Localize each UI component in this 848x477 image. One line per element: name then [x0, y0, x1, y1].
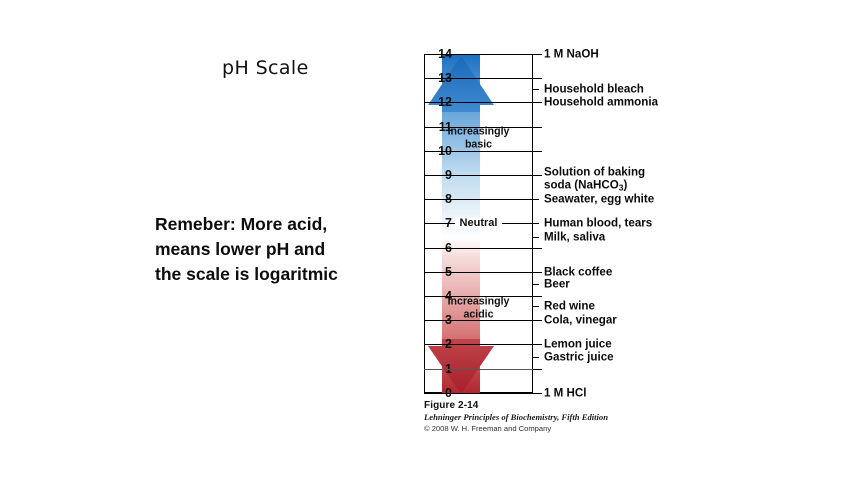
side-label-household-ammonia: Household ammonia [544, 96, 658, 109]
gridline [424, 369, 533, 370]
note-line-2: means lower pH and [155, 237, 385, 262]
tick-mark [533, 369, 542, 370]
tick-mark-minor [533, 357, 539, 358]
gridline [424, 175, 533, 176]
tick-mark-minor [533, 89, 539, 90]
baking-soda-line-1: Solution of baking [544, 166, 645, 179]
gridline [424, 272, 533, 273]
increasingly-basic-line-2: basic [424, 138, 533, 151]
tick-mark-minor [533, 284, 539, 285]
tick-mark [533, 78, 542, 79]
side-label-gastric-juice: Gastric juice [544, 351, 614, 364]
tick-mark-minor [533, 237, 539, 238]
side-label-milk-saliva: Milk, saliva [544, 231, 605, 244]
baking-soda-line-2: soda (NaHCO3) [544, 179, 645, 193]
tick-mark [533, 344, 542, 345]
side-label-baking-soda: Solution of baking soda (NaHCO3) [544, 166, 645, 193]
increasingly-basic-line-1: Increasingly [424, 126, 533, 139]
gridline [424, 102, 533, 103]
gridline [424, 78, 533, 79]
side-label-1-m-naoh: 1 M NaOH [544, 48, 599, 61]
tick-mark [533, 248, 542, 249]
gridline [424, 344, 533, 345]
note-text: Remeber: More acid, means lower pH and t… [155, 212, 385, 287]
increasingly-basic-annotation: Increasingly basic [424, 126, 533, 151]
tick-mark [533, 127, 542, 128]
figure-caption: Figure 2-14 Lehninger Principles of Bioc… [424, 400, 684, 433]
side-label-1-m-hcl: 1 M HCl [544, 386, 587, 399]
neutral-annotation: Neutral [424, 217, 533, 229]
gridline [424, 199, 533, 200]
page-title: pH Scale [222, 57, 309, 79]
increasingly-acidic-line-2: acidic [424, 308, 533, 321]
side-label-seawater: Seawater, egg white [544, 193, 654, 206]
note-line-1: Remeber: More acid, [155, 212, 385, 237]
tick-mark [533, 272, 542, 273]
gridline [424, 54, 533, 55]
tick-mark [533, 175, 542, 176]
note-line-3: the scale is logaritmic [155, 262, 385, 287]
tick-mark-minor [533, 306, 539, 307]
side-label-red-wine: Red wine [544, 300, 595, 313]
tick-mark [533, 102, 542, 103]
neutral-text: Neutral [455, 217, 503, 229]
tick-mark-minor [533, 199, 539, 200]
caption-figure-number: Figure 2-14 [424, 400, 684, 411]
increasingly-acidic-line-1: Increasingly [424, 296, 533, 309]
side-label-cola-vinegar: Cola, vinegar [544, 314, 617, 327]
gridline [424, 393, 533, 394]
tick-mark [533, 54, 542, 55]
side-label-black-coffee: Black coffee [544, 265, 612, 278]
side-label-lemon-juice: Lemon juice [544, 338, 612, 351]
tick-mark [533, 296, 542, 297]
tick-mark [533, 320, 542, 321]
caption-source: Lehninger Principles of Biochemistry, Fi… [424, 412, 684, 422]
side-label-household-bleach: Household bleach [544, 83, 644, 96]
tick-mark [533, 393, 542, 394]
side-label-human-blood: Human blood, tears [544, 217, 652, 230]
increasingly-acidic-annotation: Increasingly acidic [424, 296, 533, 321]
tick-mark [533, 151, 542, 152]
gridline [424, 151, 533, 152]
slide-canvas: pH Scale Remeber: More acid, means lower… [0, 0, 848, 477]
caption-copyright: © 2008 W. H. Freeman and Company [424, 424, 684, 433]
gridline [424, 248, 533, 249]
tick-mark-minor [533, 223, 539, 224]
ph-scale-figure: 14 1 M NaOH 13 Household bleach 12 House… [398, 40, 698, 440]
side-label-beer: Beer [544, 278, 570, 291]
